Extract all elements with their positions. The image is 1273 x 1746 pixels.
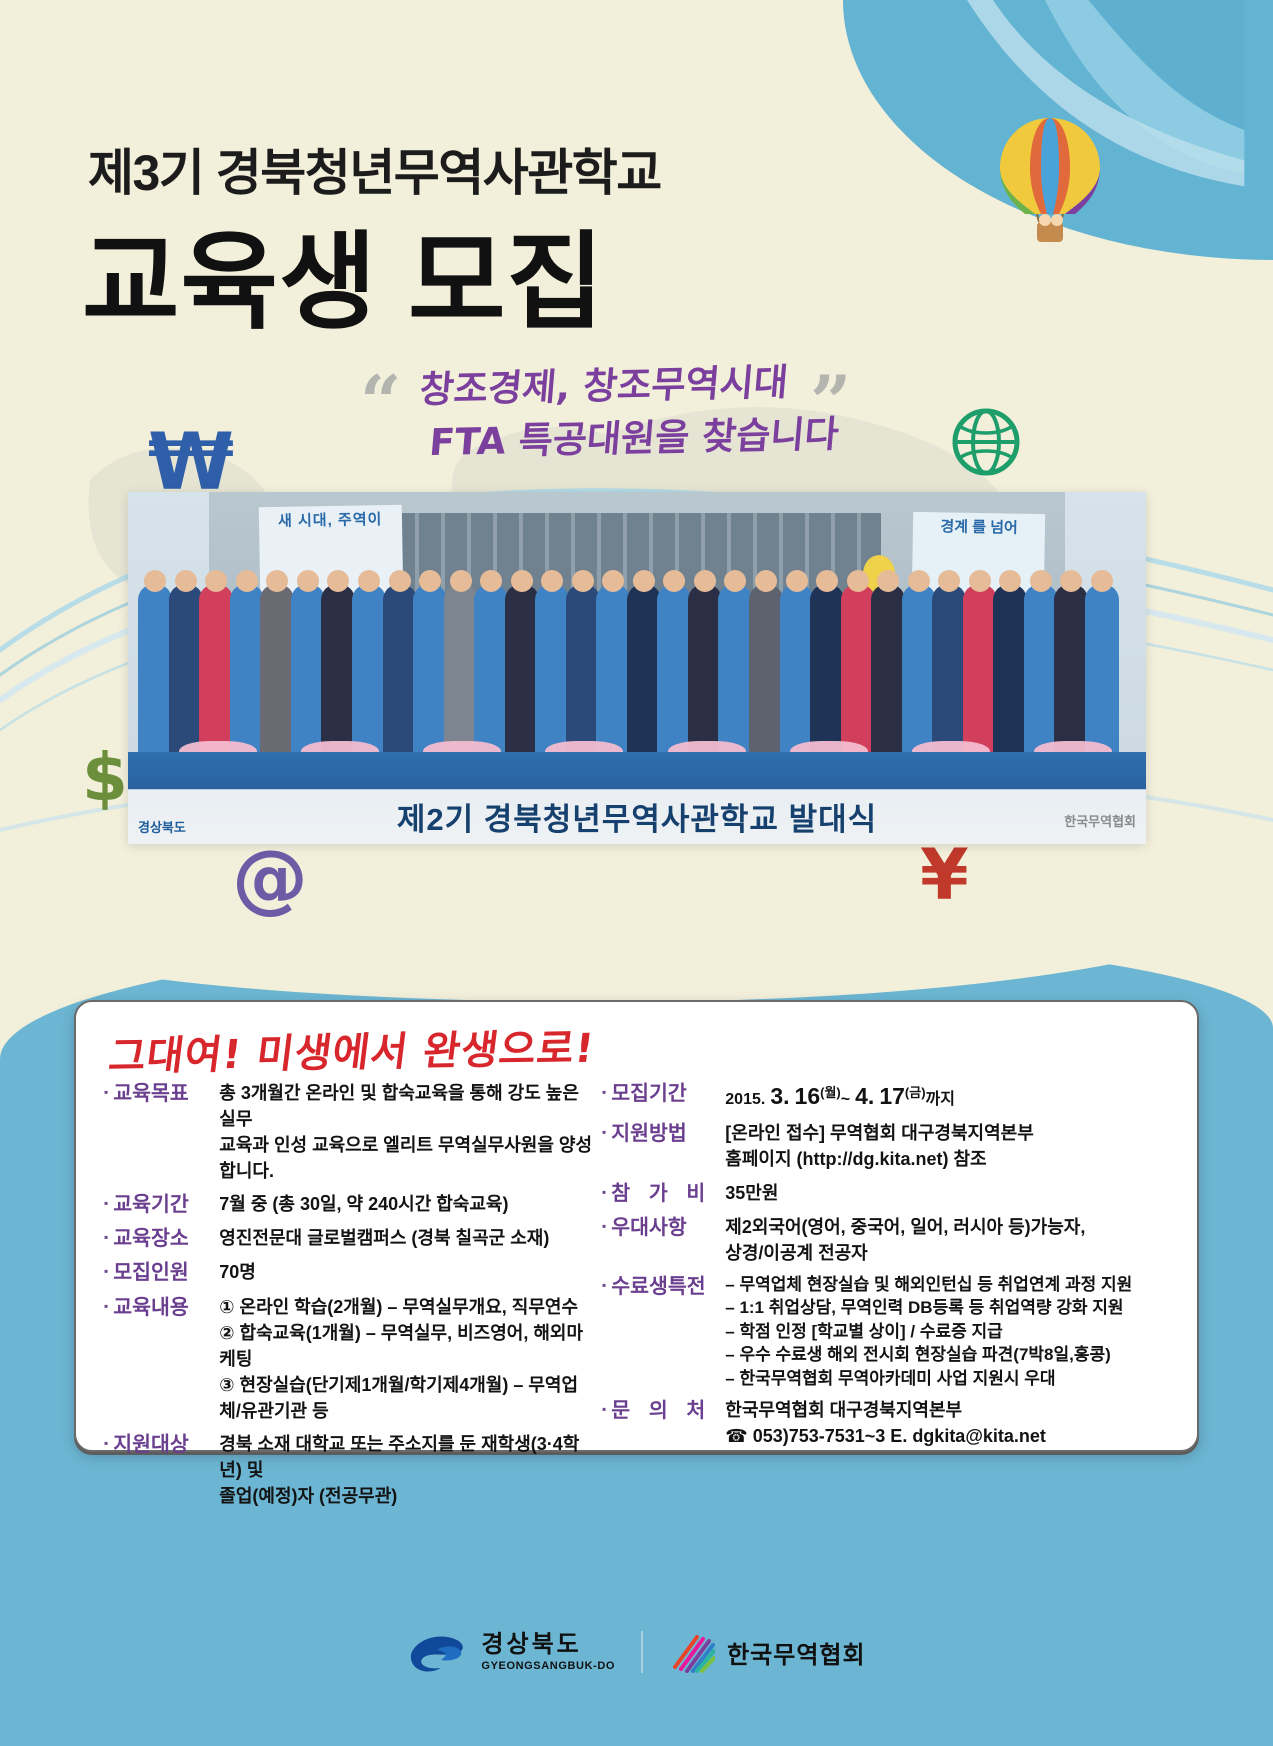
info-value: 7월 중 (총 30일, 약 240시간 합숙교육) xyxy=(209,1191,508,1218)
photo-ribbon-text: 제2기 경북청년무역사관학교 발대식 xyxy=(128,794,1146,839)
bullet-icon: ▪ xyxy=(602,1180,606,1207)
info-value-line-0: 7월 중 (총 30일, 약 240시간 합숙교육) xyxy=(219,1191,508,1217)
bullet-icon: ▪ xyxy=(602,1397,606,1449)
bullet-icon: ▪ xyxy=(602,1273,606,1390)
info-value: – 무역업체 현장실습 및 해외인턴십 등 취업연계 과정 지원– 1:1 취업… xyxy=(715,1273,1132,1390)
info-value-line-2: ③ 현장실습(단기제1개월/학기제4개월) – 무역업체/유관기관 등 xyxy=(219,1372,596,1424)
info-value-line-1: 교육과 인성 교육으로 엘리트 무역실무사원을 양성합니다. xyxy=(219,1132,596,1184)
info-label: 참 가 비 xyxy=(611,1180,715,1207)
info-row-right-5: ▪문 의 처한국무역협회 대구경북지역본부☎ 053)753-7531~3 E.… xyxy=(602,1397,1196,1449)
info-label: 교육목표 xyxy=(113,1080,209,1184)
info-value-line-0: – 무역업체 현장실습 및 해외인턴십 등 취업연계 과정 지원 xyxy=(725,1273,1132,1296)
bullet-icon: ▪ xyxy=(602,1080,606,1113)
info-label: 수료생특전 xyxy=(611,1273,715,1390)
bullet-icon: ▪ xyxy=(104,1431,108,1509)
tagline-line-2: FTA 특공대원을 찾습니다 xyxy=(413,408,841,469)
at-sign-icon: @ xyxy=(232,840,308,916)
info-label: 지원대상 xyxy=(113,1431,209,1509)
info-value-line-0: 영진전문대 글로벌캠퍼스 (경북 칠곡군 소재) xyxy=(219,1225,549,1251)
poster-root: ₩ $ @ € ¥ 제3기 경북청년무역사관학교 교육생 모집 “ ” 창조경제… xyxy=(0,0,1273,1746)
info-row-right-2: ▪참 가 비35만원 xyxy=(602,1180,1196,1207)
globe-icon xyxy=(952,408,1020,476)
info-row-right-3: ▪우대사항제2외국어(영어, 중국어, 일어, 러시아 등)가능자,상경/이공계… xyxy=(602,1214,1196,1266)
info-value-line-0: ① 온라인 학습(2개월) – 무역실무개요, 직무연수 xyxy=(219,1294,596,1320)
bullet-icon: ▪ xyxy=(104,1080,108,1184)
info-row-left-2: ▪교육장소영진전문대 글로벌캠퍼스 (경북 칠곡군 소재) xyxy=(104,1225,596,1252)
info-value-line-0: 35만원 xyxy=(725,1180,778,1206)
period-start-month: 3. xyxy=(770,1083,789,1109)
bullet-icon: ▪ xyxy=(602,1214,606,1266)
info-row-left-4: ▪교육내용① 온라인 학습(2개월) – 무역실무개요, 직무연수② 합숙교육(… xyxy=(104,1294,596,1424)
dollar-currency-icon: $ xyxy=(82,745,128,811)
info-value-line-1: 홈페이지 (http://dg.kita.net) 참조 xyxy=(725,1146,1034,1172)
info-value-line-0: 70명 xyxy=(219,1259,256,1285)
info-value-line-1: ② 합숙교육(1개월) – 무역실무, 비즈영어, 해외마케팅 xyxy=(219,1320,596,1372)
period-start-day: 16 xyxy=(795,1083,821,1109)
hot-air-balloon-icon xyxy=(975,110,1125,260)
info-value: 한국무역협회 대구경북지역본부☎ 053)753-7531~3 E. dgkit… xyxy=(715,1397,1046,1449)
tagline-text: 창조경제, 창조무역시대 FTA 특공대원을 찾습니다 xyxy=(413,356,845,470)
info-value-line-4: – 한국무역협회 무역아카데미 사업 지원시 우대 xyxy=(725,1367,1132,1390)
info-card-columns: ▪교육목표총 3개월간 온라인 및 합숙교육을 통해 강도 높은 실무교육과 인… xyxy=(76,1080,1197,1516)
info-row-left-1: ▪교육기간7월 중 (총 30일, 약 240시간 합숙교육) xyxy=(104,1191,596,1218)
photo-banner-left-text: 새 시대, 주역이 xyxy=(259,505,402,532)
poster-title: 교육생 모집 xyxy=(82,196,605,350)
bullet-icon: ▪ xyxy=(104,1191,108,1218)
info-label: 모집기간 xyxy=(611,1080,715,1113)
tagline-line-1: 창조경제, 창조무역시대 xyxy=(418,361,790,412)
info-row-left-5: ▪지원대상경북 소재 대학교 또는 주소지를 둔 재학생(3·4학년) 및졸업(… xyxy=(104,1431,596,1509)
info-value-line-0: 경북 소재 대학교 또는 주소지를 둔 재학생(3·4학년) 및 xyxy=(219,1431,596,1483)
period-end-day: 17 xyxy=(879,1083,905,1109)
poster-subtitle: 제3기 경북청년무역사관학교 xyxy=(88,133,661,205)
bullet-icon: ▪ xyxy=(104,1259,108,1286)
info-value-line-0: 한국무역협회 대구경북지역본부 xyxy=(725,1397,1046,1423)
info-row-left-0: ▪교육목표총 3개월간 온라인 및 합숙교육을 통해 강도 높은 실무교육과 인… xyxy=(104,1080,596,1184)
info-value: 영진전문대 글로벌캠퍼스 (경북 칠곡군 소재) xyxy=(209,1225,549,1252)
yen-currency-icon: ¥ xyxy=(920,840,969,910)
info-value: 70명 xyxy=(209,1259,256,1286)
kita-logo-ko: 한국무역협회 xyxy=(727,1635,865,1670)
info-label: 지원방법 xyxy=(611,1120,715,1172)
info-value: 2015. 3. 16(월)~ 4. 17(금)까지 xyxy=(715,1080,955,1113)
info-value: [온라인 접수] 무역협회 대구경북지역본부홈페이지 (http://dg.ki… xyxy=(715,1120,1034,1172)
info-value: 경북 소재 대학교 또는 주소지를 둔 재학생(3·4학년) 및졸업(예정)자 … xyxy=(209,1431,596,1509)
photo-banner-right-text: 경계 를 넘어 xyxy=(913,512,1046,539)
photo-ribbon: 경상북도 제2기 경북청년무역사관학교 발대식 한국무역협회 xyxy=(128,752,1146,844)
period-year: 2015. xyxy=(725,1091,765,1108)
info-label: 우대사항 xyxy=(611,1214,715,1266)
gyeongsangbuk-do-logo-en: GYEONGSANGBUK-DO xyxy=(481,1661,615,1672)
info-label: 교육기간 xyxy=(113,1191,209,1218)
photo-crowd xyxy=(128,584,1146,753)
info-value-line-0: [온라인 접수] 무역협회 대구경북지역본부 xyxy=(725,1120,1034,1146)
info-value-line-1: ☎ 053)753-7531~3 E. dgkita@kita.net xyxy=(725,1423,1046,1449)
info-column-right: ▪모집기간2015. 3. 16(월)~ 4. 17(금)까지▪지원방법[온라인… xyxy=(596,1080,1196,1516)
won-currency-icon: ₩ xyxy=(148,424,234,502)
footer-logos: 경상북도 GYEONGSANGBUK-DO 한국무역협회 xyxy=(0,1630,1273,1674)
quote-open-icon: “ xyxy=(360,366,401,438)
info-value-line-1: – 1:1 취업상담, 무역인력 DB등록 등 취업역량 강화 지원 xyxy=(725,1296,1132,1319)
info-label: 교육내용 xyxy=(113,1294,209,1424)
info-column-left: ▪교육목표총 3개월간 온라인 및 합숙교육을 통해 강도 높은 실무교육과 인… xyxy=(76,1080,596,1516)
gyeongsangbuk-do-logo-ko: 경상북도 xyxy=(481,1633,615,1657)
info-value: ① 온라인 학습(2개월) – 무역실무개요, 직무연수② 합숙교육(1개월) … xyxy=(209,1294,596,1424)
info-value-line-1: 상경/이공계 전공자 xyxy=(725,1240,1085,1266)
info-value-line-1: 졸업(예정)자 (전공무관) xyxy=(219,1483,596,1509)
info-label: 모집인원 xyxy=(113,1259,209,1286)
info-value: 35만원 xyxy=(715,1180,778,1207)
gyeongsangbuk-do-mark-icon xyxy=(407,1630,469,1674)
info-card-title: 그대여! 미생에서 완생으로! xyxy=(106,1016,598,1082)
info-row-left-3: ▪모집인원70명 xyxy=(104,1259,596,1286)
event-photo: 새 시대, 주역이 경계 를 넘어 경상북도 xyxy=(128,492,1146,844)
info-value-line-3: – 우수 수료생 해외 전시회 현장실습 파견(7박8일,홍콩) xyxy=(725,1343,1132,1366)
info-value: 제2외국어(영어, 중국어, 일어, 러시아 등)가능자,상경/이공계 전공자 xyxy=(715,1214,1085,1266)
period-end-dow: (금) xyxy=(905,1085,926,1100)
info-value-line-2: – 학점 인정 [학교별 상이] / 수료증 지급 xyxy=(725,1320,1132,1343)
kita-mark-icon xyxy=(669,1631,715,1673)
kita-logo: 한국무역협회 xyxy=(669,1631,865,1673)
info-row-right-0: ▪모집기간2015. 3. 16(월)~ 4. 17(금)까지 xyxy=(602,1080,1196,1113)
info-label: 문 의 처 xyxy=(611,1397,715,1449)
period-tilde: ~ xyxy=(841,1091,850,1108)
bullet-icon: ▪ xyxy=(104,1225,108,1252)
info-value: 총 3개월간 온라인 및 합숙교육을 통해 강도 높은 실무교육과 인성 교육으… xyxy=(209,1080,596,1184)
bullet-icon: ▪ xyxy=(104,1294,108,1424)
period-end-month: 4. xyxy=(855,1083,874,1109)
info-card: 그대여! 미생에서 완생으로! ▪교육목표총 3개월간 온라인 및 합숙교육을 … xyxy=(74,1000,1199,1452)
info-row-right-4: ▪수료생특전– 무역업체 현장실습 및 해외인턴십 등 취업연계 과정 지원– … xyxy=(602,1273,1196,1390)
info-value-line-0: 제2외국어(영어, 중국어, 일어, 러시아 등)가능자, xyxy=(725,1214,1085,1240)
gyeongsangbuk-do-logo-text: 경상북도 GYEONGSANGBUK-DO xyxy=(481,1633,615,1672)
period-suffix: 까지 xyxy=(926,1091,955,1108)
photo-ribbon-logo-right: 한국무역협회 xyxy=(1064,811,1136,830)
info-value-line-0: 총 3개월간 온라인 및 합숙교육을 통해 강도 높은 실무 xyxy=(219,1080,596,1132)
footer-logo-divider xyxy=(641,1631,643,1673)
info-row-right-1: ▪지원방법[온라인 접수] 무역협회 대구경북지역본부홈페이지 (http://… xyxy=(602,1120,1196,1172)
bullet-icon: ▪ xyxy=(602,1120,606,1172)
info-label: 교육장소 xyxy=(113,1225,209,1252)
gyeongsangbuk-do-logo: 경상북도 GYEONGSANGBUK-DO xyxy=(407,1630,615,1674)
period-start-dow: (월) xyxy=(820,1085,841,1100)
